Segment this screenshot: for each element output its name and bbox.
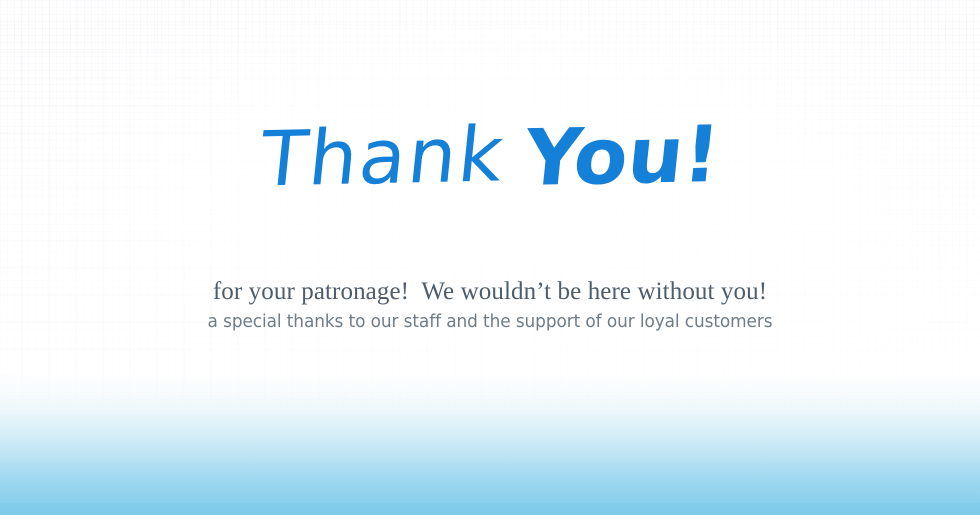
slide-content: ThankYou! for your patronage! We wouldn’…: [0, 0, 980, 515]
headline: ThankYou!: [0, 118, 980, 196]
subtitle-secondary: a special thanks to our staff and the su…: [29, 311, 950, 332]
headline-word-thank: Thank: [257, 116, 509, 197]
headline-word-you: You!: [520, 116, 722, 198]
thank-you-slide: ThankYou! for your patronage! We wouldn’…: [0, 0, 980, 515]
subtitle-primary: for your patronage! We wouldn’t be here …: [0, 278, 980, 306]
